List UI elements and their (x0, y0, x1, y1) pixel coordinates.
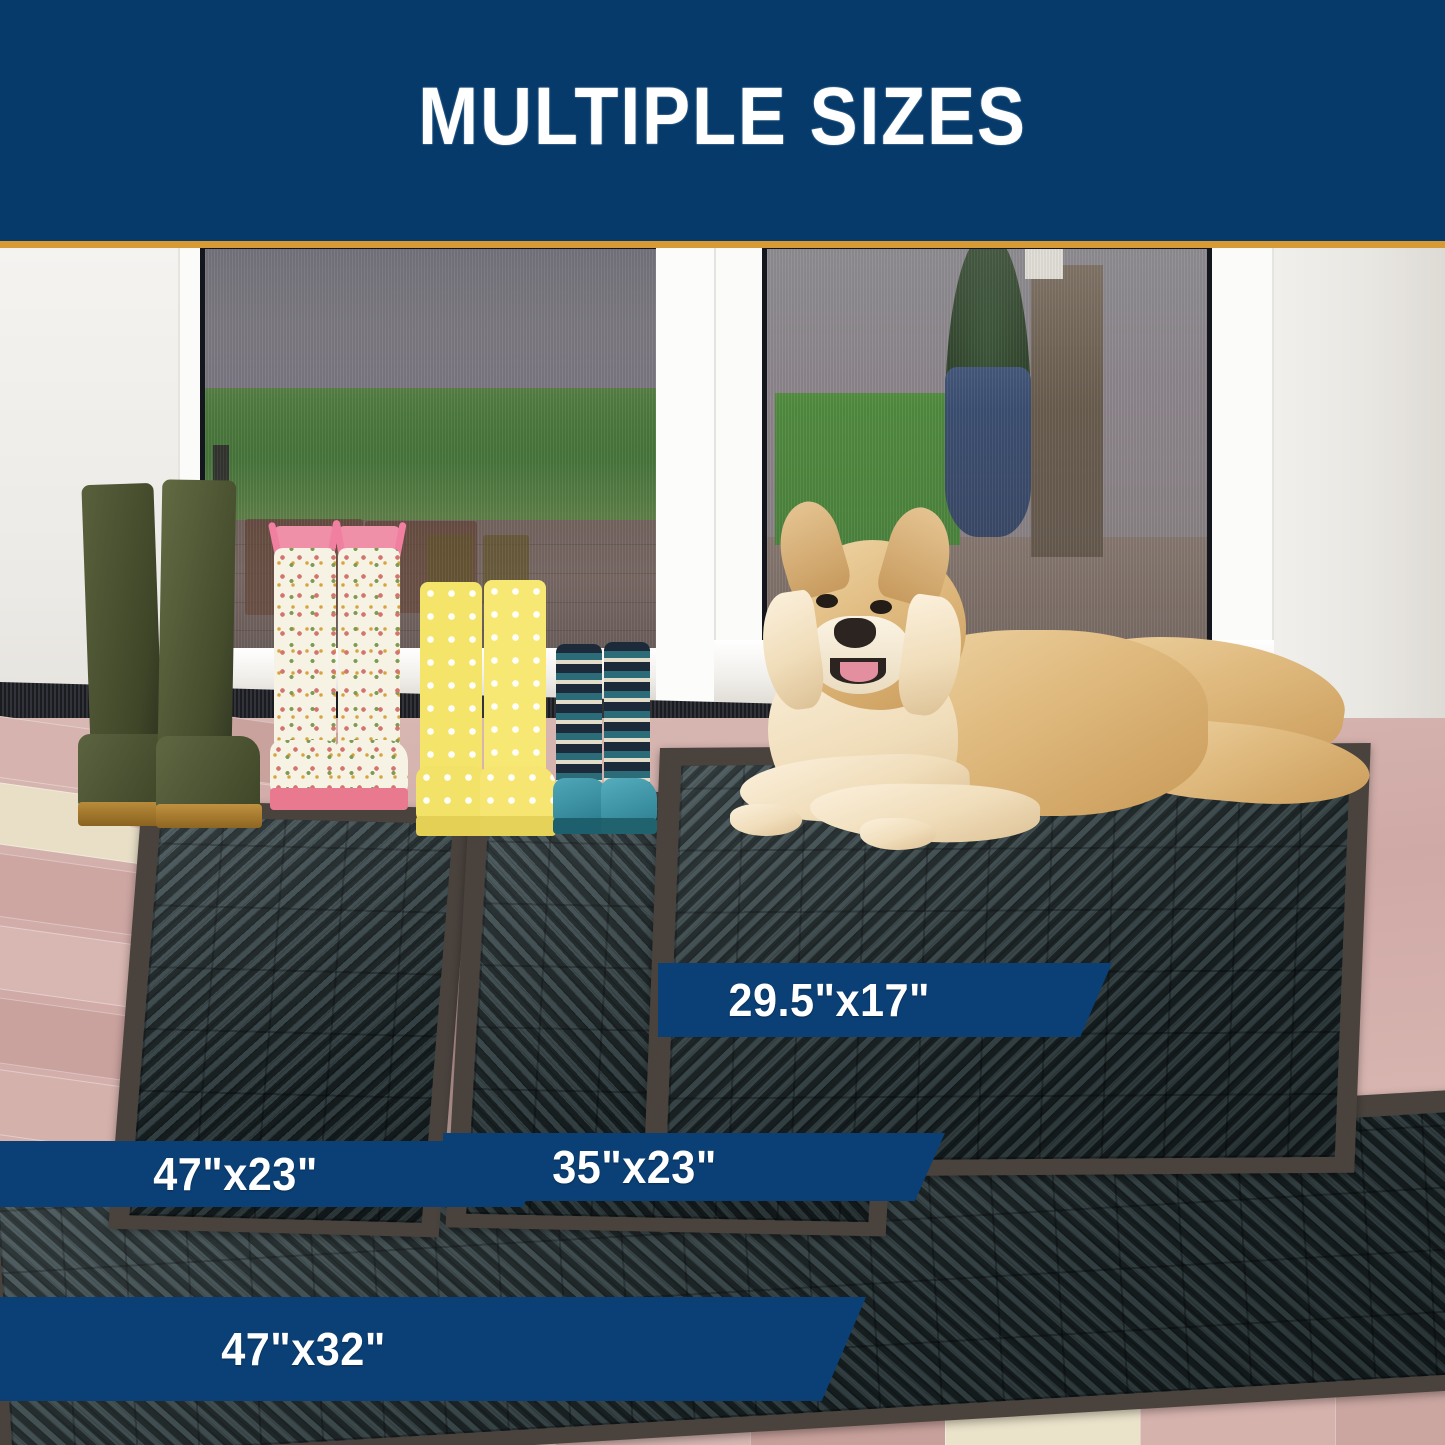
dog-tongue (840, 662, 878, 682)
size-badge-label: 29.5"x17" (728, 973, 930, 1027)
size-badge-label: 47"x23" (153, 1147, 318, 1201)
size-badge-label: 35"x23" (552, 1140, 717, 1194)
golden-spitz-dog (690, 488, 1390, 908)
size-badge-29-5x17: 29.5"x17" (658, 963, 1112, 1037)
dog-eye-right (870, 600, 892, 614)
header-banner: MULTIPLE SIZES (0, 0, 1445, 241)
dog-paw (730, 804, 802, 836)
size-badge-label: 47"x32" (221, 1322, 386, 1376)
header-accent-rule (0, 241, 1445, 248)
page-title: MULTIPLE SIZES (87, 70, 1359, 164)
size-badge-47x32: 47"x32" (0, 1297, 866, 1401)
dog-ear-left (768, 495, 854, 602)
product-photo (0, 248, 1445, 1445)
dog-paw (860, 818, 936, 850)
size-badge-35x23: 35"x23" (443, 1133, 945, 1201)
dog-nose (834, 618, 876, 648)
dog-eye-left (816, 594, 838, 608)
product-image: 29.5"x17" 47"x23" 35"x23" 47"x32" MULTIP… (0, 0, 1445, 1445)
